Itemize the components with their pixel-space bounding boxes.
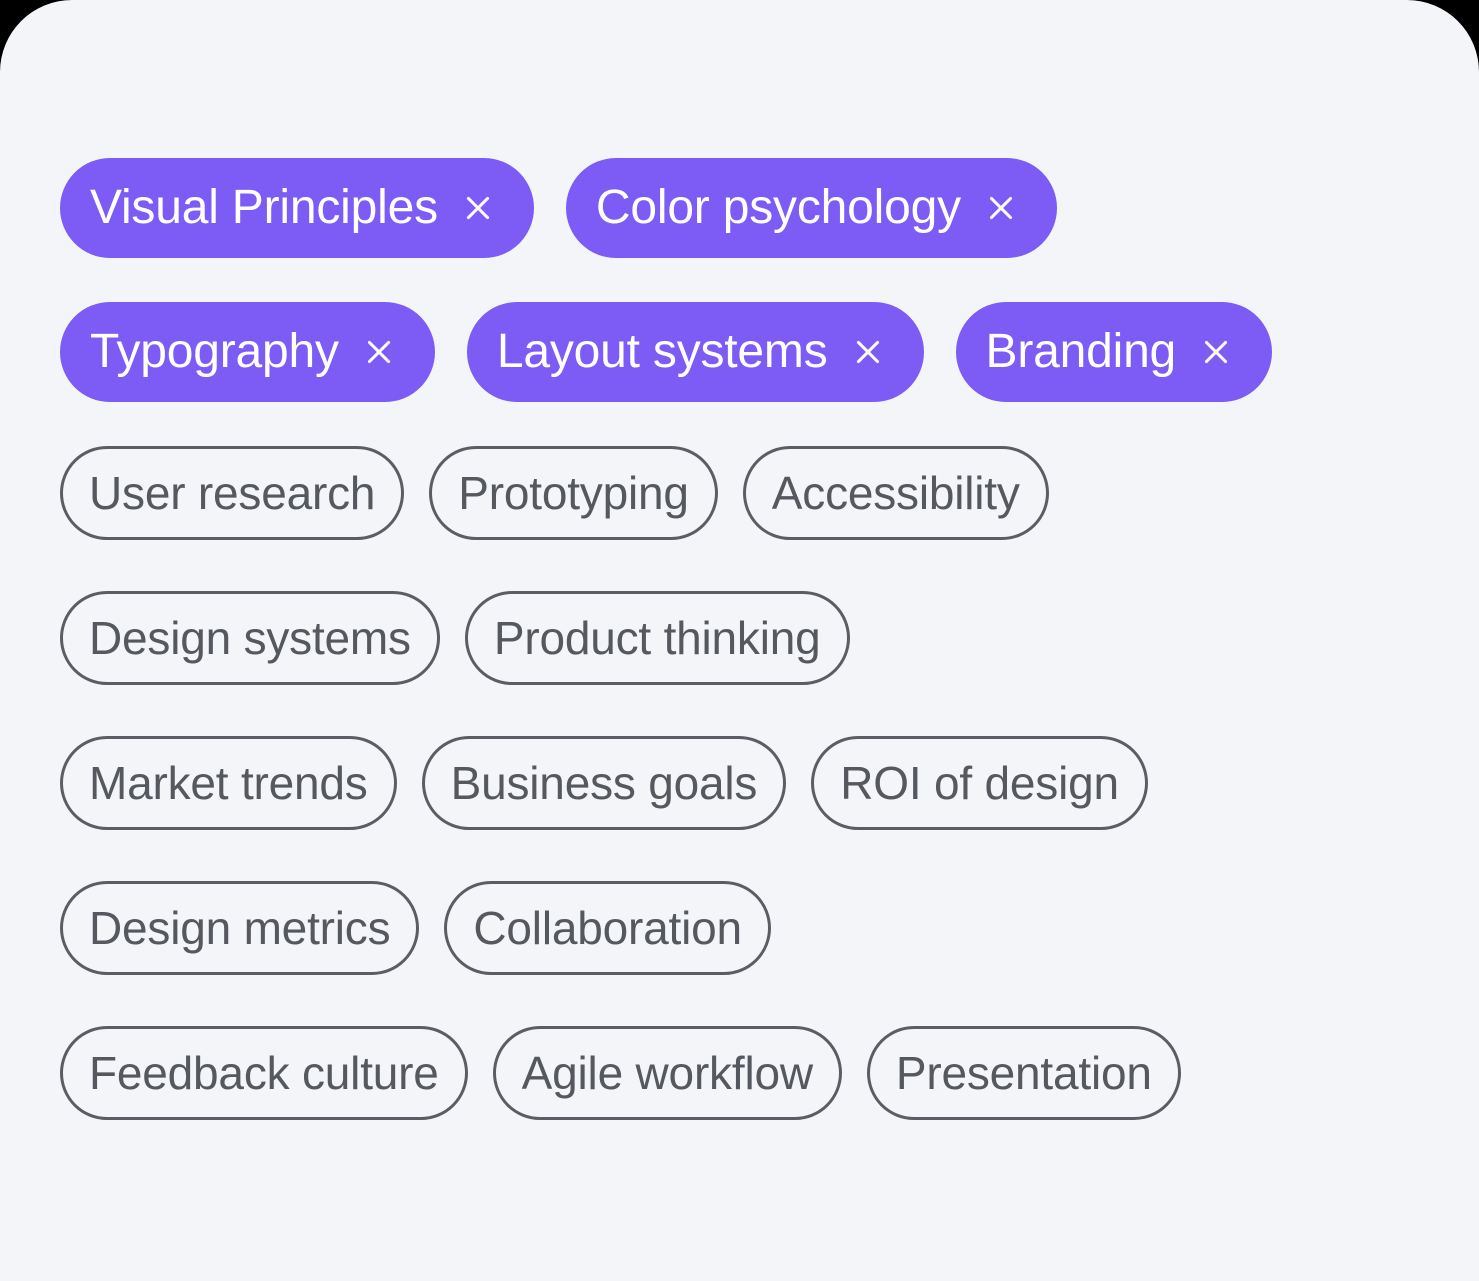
tag-label: Prototyping: [458, 470, 689, 516]
available-tags-row-1: User research Prototyping Accessibility: [60, 446, 1370, 591]
selected-tag-branding[interactable]: Branding: [956, 302, 1273, 402]
available-tag-business-goals[interactable]: Business goals: [422, 736, 787, 830]
selected-tag-layout-systems[interactable]: Layout systems: [467, 302, 924, 402]
available-tags-row-5: Feedback culture Agile workflow Presenta…: [60, 1026, 1370, 1171]
available-tag-agile-workflow[interactable]: Agile workflow: [493, 1026, 842, 1120]
tag-label: Design metrics: [89, 905, 390, 951]
tag-label: Business goals: [451, 760, 758, 806]
tag-selector-card: Visual Principles Color psychology Typog…: [0, 0, 1479, 1281]
available-tag-product-thinking[interactable]: Product thinking: [465, 591, 850, 685]
available-tags-row-2: Design systems Product thinking: [60, 591, 1370, 736]
tag-label: Agile workflow: [522, 1050, 813, 1096]
tag-label: Feedback culture: [89, 1050, 439, 1096]
available-tag-market-trends[interactable]: Market trends: [60, 736, 397, 830]
close-icon[interactable]: [1194, 330, 1238, 374]
tag-cloud: Visual Principles Color psychology Typog…: [60, 158, 1370, 1171]
close-icon[interactable]: [979, 186, 1023, 230]
available-tag-roi-of-design[interactable]: ROI of design: [811, 736, 1148, 830]
selected-tags-row-1: Visual Principles Color psychology: [60, 158, 1370, 302]
tag-label: Branding: [986, 328, 1181, 376]
available-tag-user-research[interactable]: User research: [60, 446, 404, 540]
selected-tag-color-psychology[interactable]: Color psychology: [566, 158, 1057, 258]
tag-label: Collaboration: [473, 905, 741, 951]
tag-label: Visual Principles: [90, 184, 442, 232]
close-icon[interactable]: [456, 186, 500, 230]
available-tags-row-3: Market trends Business goals ROI of desi…: [60, 736, 1370, 881]
available-tag-prototyping[interactable]: Prototyping: [429, 446, 718, 540]
tag-label: Product thinking: [494, 615, 821, 661]
selected-tag-visual-principles[interactable]: Visual Principles: [60, 158, 534, 258]
available-tags-row-4: Design metrics Collaboration: [60, 881, 1370, 1026]
available-tag-accessibility[interactable]: Accessibility: [743, 446, 1049, 540]
tag-label: Design systems: [89, 615, 411, 661]
tag-label: User research: [89, 470, 375, 516]
available-tag-design-systems[interactable]: Design systems: [60, 591, 440, 685]
tag-label: Presentation: [896, 1050, 1152, 1096]
available-tag-feedback-culture[interactable]: Feedback culture: [60, 1026, 468, 1120]
close-icon[interactable]: [846, 330, 890, 374]
selected-tag-typography[interactable]: Typography: [60, 302, 435, 402]
tag-label: Layout systems: [497, 328, 832, 376]
available-tag-design-metrics[interactable]: Design metrics: [60, 881, 419, 975]
tag-label: ROI of design: [840, 760, 1119, 806]
available-tag-presentation[interactable]: Presentation: [867, 1026, 1181, 1120]
tag-label: Color psychology: [596, 184, 965, 232]
tag-label: Market trends: [89, 760, 368, 806]
selected-tags-row-2: Typography Layout systems Branding: [60, 302, 1370, 446]
tag-label: Accessibility: [772, 470, 1020, 516]
tag-label: Typography: [90, 328, 343, 376]
available-tag-collaboration[interactable]: Collaboration: [444, 881, 770, 975]
close-icon[interactable]: [357, 330, 401, 374]
